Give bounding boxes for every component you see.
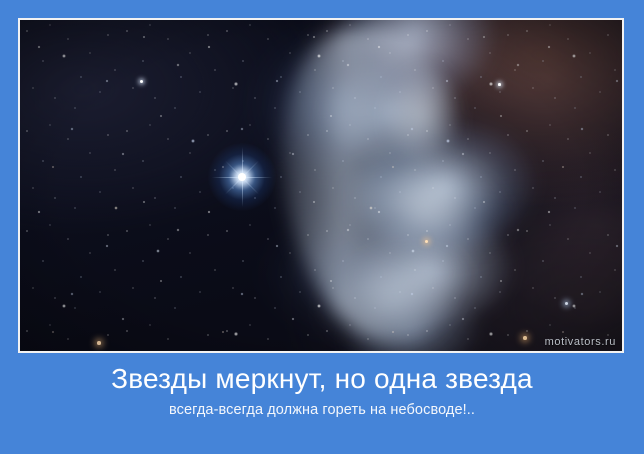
photo-vignette [20, 20, 622, 351]
space-photograph: motivators.ru [20, 20, 622, 351]
watermark-text: motivators.ru [545, 336, 616, 348]
photo-frame: motivators.ru [18, 18, 624, 353]
poster-title: Звезды меркнут, но одна звезда [0, 353, 644, 394]
caption-block: Звезды меркнут, но одна звезда всегда-вс… [0, 353, 644, 454]
motivator-poster: motivators.ru Звезды меркнут, но одна зв… [0, 0, 644, 454]
poster-subtitle: всегда-всегда должна гореть на небосводе… [0, 394, 644, 419]
